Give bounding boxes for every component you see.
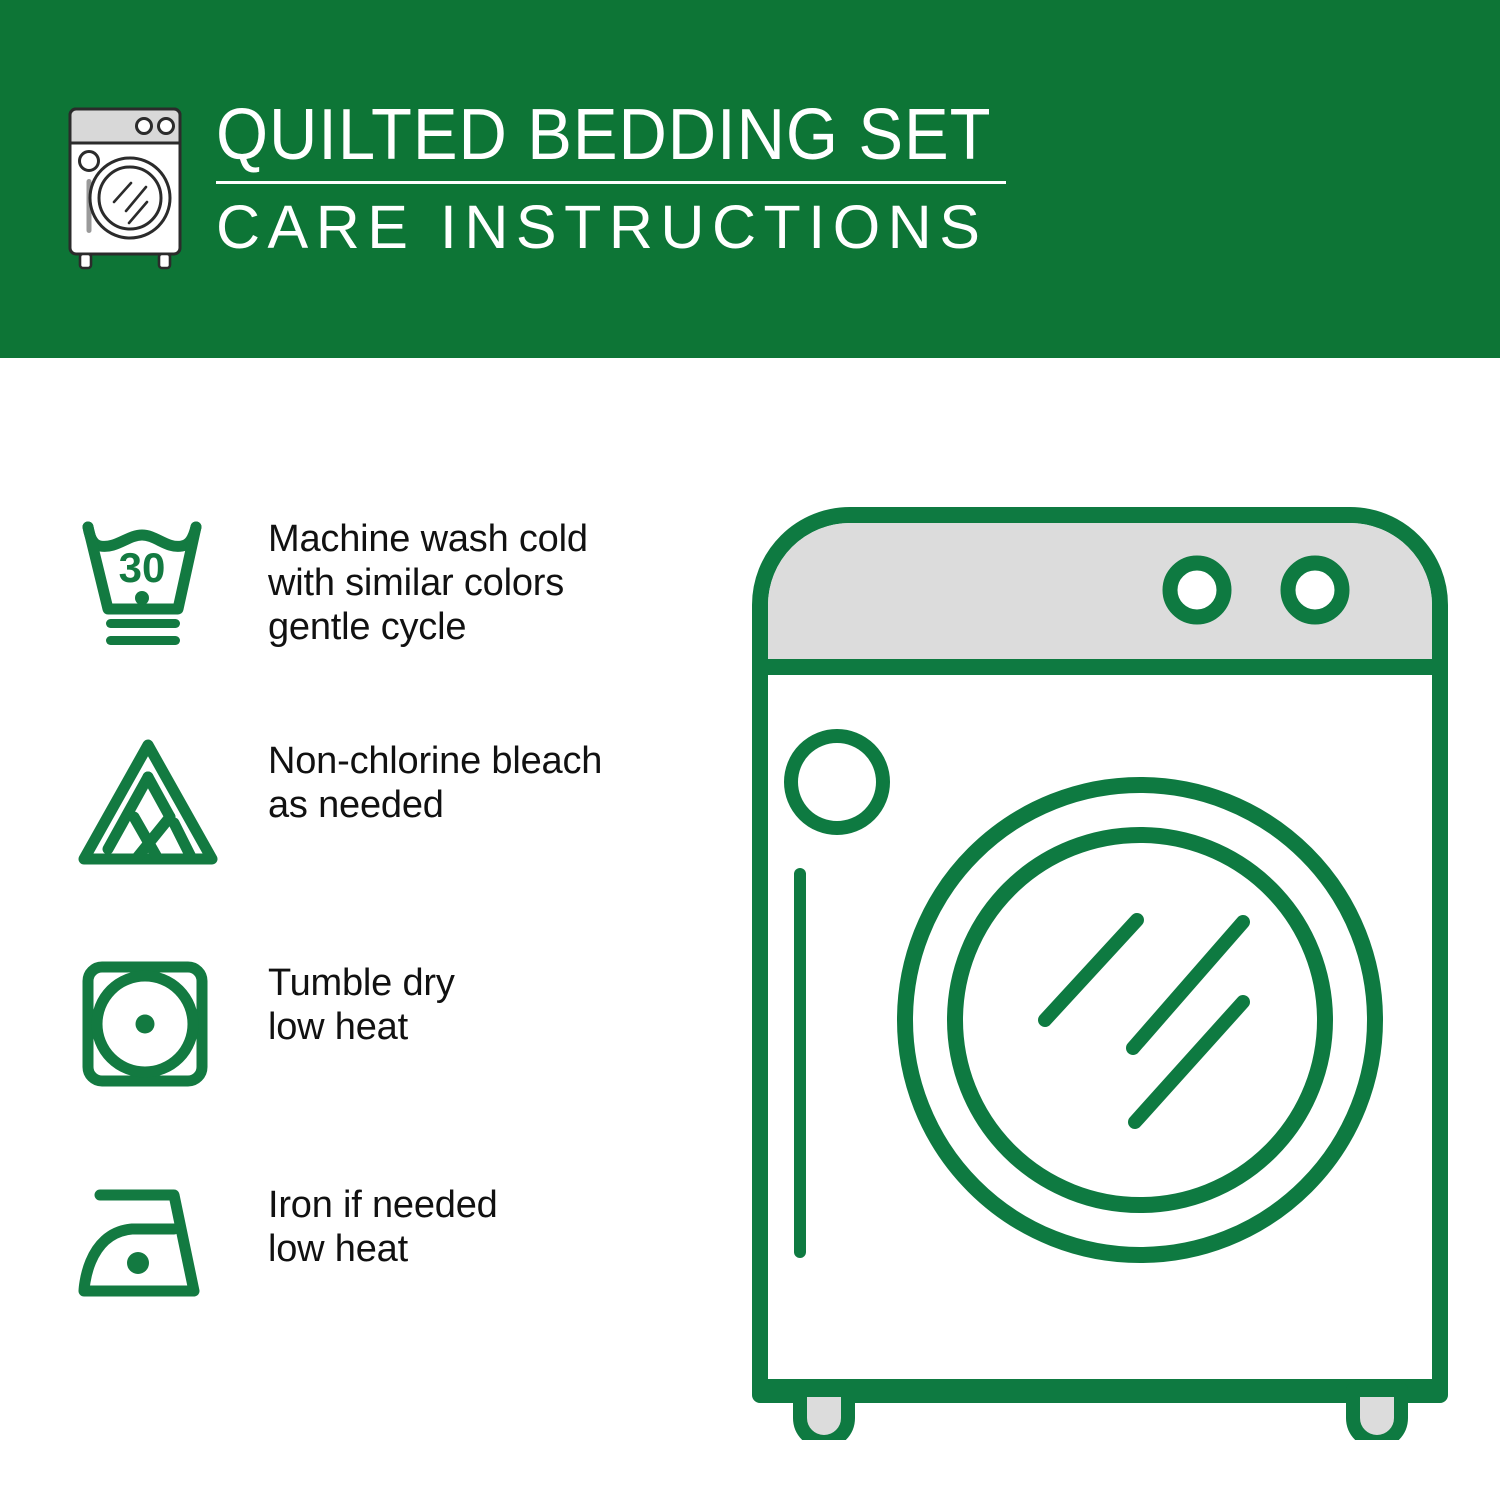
care-text-bleach: Non-chlorine bleach as needed <box>268 727 602 827</box>
care-row-bleach: Non-chlorine bleach as needed <box>70 727 710 949</box>
door-inner-ring[interactable] <box>955 835 1325 1205</box>
care-text-iron: Iron if needed low heat <box>268 1171 498 1271</box>
tumble-dry-dot <box>136 1015 155 1034</box>
care-line: with similar colors <box>268 561 588 605</box>
care-row-iron: Iron if needed low heat <box>70 1171 710 1393</box>
wash-temperature-label: 30 <box>119 544 166 591</box>
care-line: gentle cycle <box>268 605 588 649</box>
header-content: QUILTED BEDDING SET CARE INSTRUCTIONS <box>60 95 1060 280</box>
page-subtitle: CARE INSTRUCTIONS <box>216 194 1050 260</box>
header-band: QUILTED BEDDING SET CARE INSTRUCTIONS <box>0 0 1500 358</box>
care-line: low heat <box>268 1227 498 1271</box>
care-line: Tumble dry <box>268 961 455 1005</box>
foot-left <box>800 1390 848 1440</box>
care-line: as needed <box>268 783 602 827</box>
tumble-dry-low-icon <box>70 949 240 1109</box>
care-line: Machine wash cold <box>268 517 588 561</box>
non-chlorine-bleach-triangle-icon <box>70 727 240 887</box>
care-row-tumble-dry: Tumble dry low heat <box>70 949 710 1171</box>
foot-right <box>1353 1390 1401 1440</box>
page-title: QUILTED BEDDING SET <box>216 97 991 173</box>
iron-low-heat-icon <box>70 1171 240 1331</box>
title-divider <box>216 181 1006 184</box>
care-text-tumble-dry: Tumble dry low heat <box>268 949 455 1049</box>
detergent-dial[interactable] <box>791 736 883 828</box>
care-line: Iron if needed <box>268 1183 498 1227</box>
care-row-machine-wash: 30 Machine wash cold with similar colors… <box>70 505 710 727</box>
care-text-machine-wash: Machine wash cold with similar colors ge… <box>268 505 588 649</box>
care-line: Non-chlorine bleach <box>268 739 602 783</box>
wash-dot <box>135 591 149 605</box>
knob-right[interactable] <box>1288 563 1342 617</box>
care-instruction-list: 30 Machine wash cold with similar colors… <box>70 505 710 1393</box>
knob-left[interactable] <box>1170 563 1224 617</box>
care-line: low heat <box>268 1005 455 1049</box>
washing-machine-icon <box>60 101 190 271</box>
front-load-washing-machine-illustration <box>745 500 1455 1440</box>
indicator-bar <box>794 868 806 1258</box>
header-titles: QUILTED BEDDING SET CARE INSTRUCTIONS <box>216 95 1050 260</box>
iron-dot <box>127 1252 149 1274</box>
wash-tub-30-gentle-icon: 30 <box>70 505 240 665</box>
care-instructions-page: QUILTED BEDDING SET CARE INSTRUCTIONS 30 <box>0 0 1500 1500</box>
